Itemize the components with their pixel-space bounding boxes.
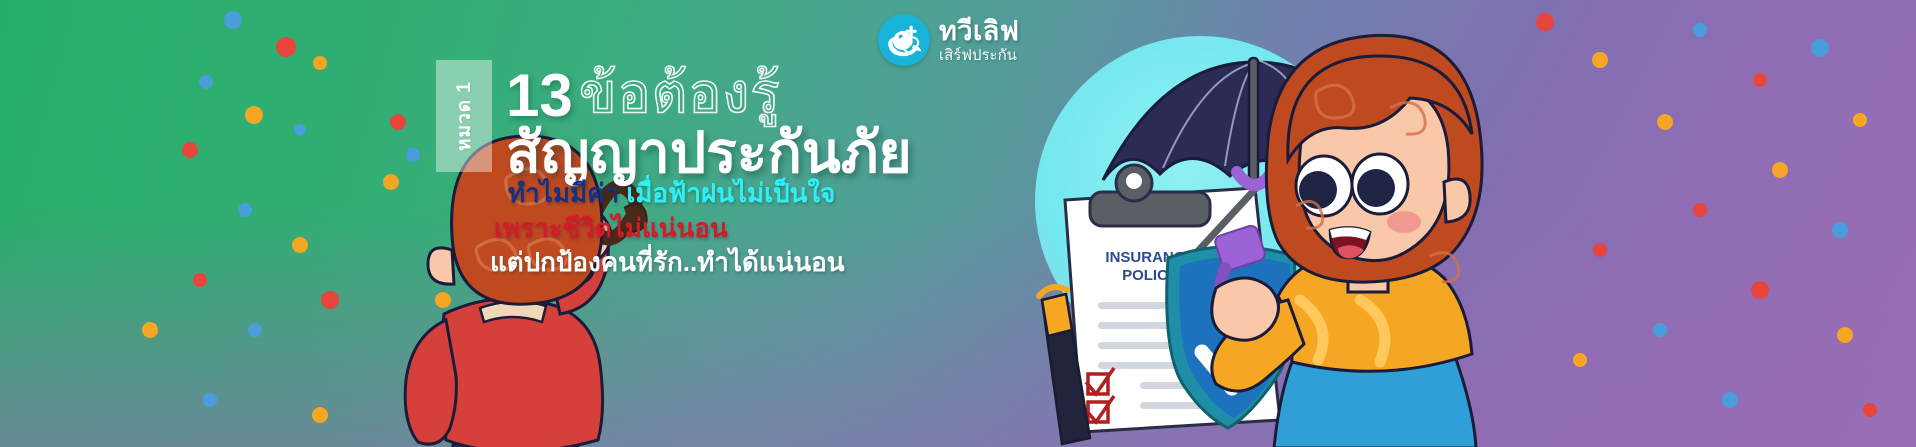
confetti-dot <box>245 106 263 124</box>
confetti-dot <box>406 148 420 162</box>
headline-main-text: สัญญาประกันภัย <box>506 124 912 184</box>
confetti-dot <box>1693 203 1707 217</box>
confetti-dot <box>1722 392 1738 408</box>
confetti-dot <box>1837 327 1853 343</box>
confetti-dot <box>383 174 399 190</box>
logo-text: ทวีเลิฟ เสิร์ฟประกัน <box>939 18 1019 63</box>
confetti-dot <box>238 203 252 217</box>
confetti-dot <box>1772 162 1788 178</box>
category-badge-label: หมวด 1 <box>449 81 479 151</box>
confetti-dot <box>1593 243 1607 257</box>
confetti-dot <box>1653 323 1667 337</box>
logo-tagline: เสิร์ฟประกัน <box>939 48 1019 63</box>
subheadline-line-2-red: เพราะชีวิตไม่แน่นอน <box>494 213 728 243</box>
brand-logo[interactable]: ทวีเลิฟ เสิร์ฟประกัน <box>878 14 1019 66</box>
confetti-dot <box>1657 114 1673 130</box>
confetti-dot <box>1751 281 1769 299</box>
subheadline-line-1: ทำไมมีค่า เมื่อฟ้าฝนไม่เป็นใจ <box>508 176 1110 211</box>
confetti-dot <box>142 322 158 338</box>
confetti-dot <box>1853 113 1867 127</box>
confetti-dot <box>182 142 198 158</box>
confetti-dot <box>294 124 306 136</box>
subheadline-line-2: เพราะชีวิตไม่แน่นอน <box>494 211 1110 246</box>
confetti-dot <box>313 56 327 70</box>
confetti-dot <box>1832 222 1848 238</box>
confetti-dot <box>292 237 308 253</box>
bird-heart-plus-icon <box>878 14 930 66</box>
logo-name: ทวีเลิฟ <box>939 18 1019 45</box>
confetti-dot <box>203 393 217 407</box>
confetti-dot <box>276 37 296 57</box>
confetti-dot <box>1592 52 1608 68</box>
confetti-dot <box>435 292 451 308</box>
confetti-dot <box>193 273 207 287</box>
confetti-dot <box>1536 13 1554 31</box>
confetti-dot <box>390 114 406 130</box>
subheadline-block: ทำไมมีค่า เมื่อฟ้าฝนไม่เป็นใจ เพราะชีวิต… <box>490 176 1110 280</box>
subheadline-line-3: แต่ปกป้องคนที่รัก..ทำได้แน่นอน <box>490 245 1110 280</box>
confetti-dot <box>1753 73 1767 87</box>
confetti-dot <box>1573 353 1587 367</box>
subheadline-line-1-cyan: เมื่อฟ้าฝนไม่เป็นใจ <box>626 178 835 208</box>
headline-outline-text: ข้อต้องรู้ <box>579 66 781 121</box>
confetti-dot <box>1693 23 1707 37</box>
confetti-dot <box>321 291 339 309</box>
promo-banner: INSURANCE POLICY <box>0 0 1916 447</box>
confetti-dot <box>1811 39 1829 57</box>
headline-number: 13 <box>506 66 573 126</box>
confetti-dot <box>248 323 262 337</box>
category-badge: หมวด 1 <box>436 60 492 172</box>
confetti-dot <box>199 75 213 89</box>
confetti-dot <box>1863 403 1877 417</box>
confetti-dot <box>224 11 242 29</box>
subheadline-line-1-navy: ทำไมมีค่า <box>508 178 619 208</box>
confetti-dot <box>312 407 328 423</box>
checkbox-icon <box>1086 368 1114 422</box>
subheadline-line-3-white: แต่ปกป้องคนที่รัก..ทำได้แน่นอน <box>490 247 845 277</box>
